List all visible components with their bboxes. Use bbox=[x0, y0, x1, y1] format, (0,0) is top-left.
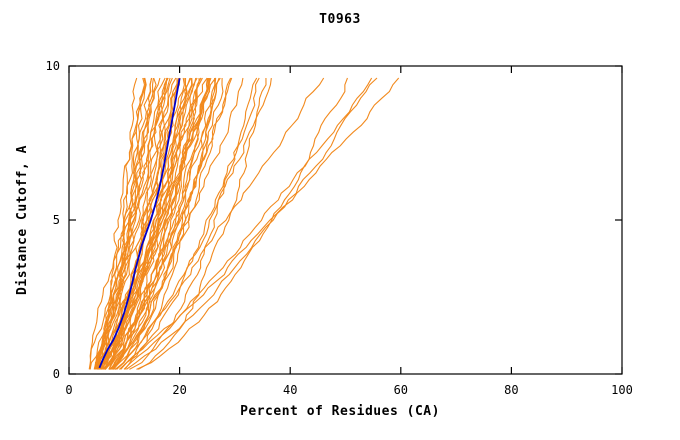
y-axis-label-wrap: Distance Cutoff, A bbox=[14, 0, 44, 440]
svg-text:60: 60 bbox=[394, 383, 408, 397]
svg-text:40: 40 bbox=[283, 383, 297, 397]
svg-text:20: 20 bbox=[172, 383, 186, 397]
plot-area: 0204060801000510 bbox=[0, 0, 680, 440]
y-axis-label: Distance Cutoff, A bbox=[14, 0, 32, 440]
x-axis-label: Percent of Residues (CA) bbox=[0, 404, 680, 419]
svg-text:80: 80 bbox=[504, 383, 518, 397]
svg-text:100: 100 bbox=[611, 383, 633, 397]
svg-text:5: 5 bbox=[53, 213, 60, 227]
svg-text:0: 0 bbox=[53, 367, 60, 381]
svg-text:0: 0 bbox=[65, 383, 72, 397]
chart-container: T0963 0204060801000510 Percent of Residu… bbox=[0, 0, 680, 440]
plot-frame bbox=[69, 66, 622, 374]
svg-text:10: 10 bbox=[46, 59, 60, 73]
